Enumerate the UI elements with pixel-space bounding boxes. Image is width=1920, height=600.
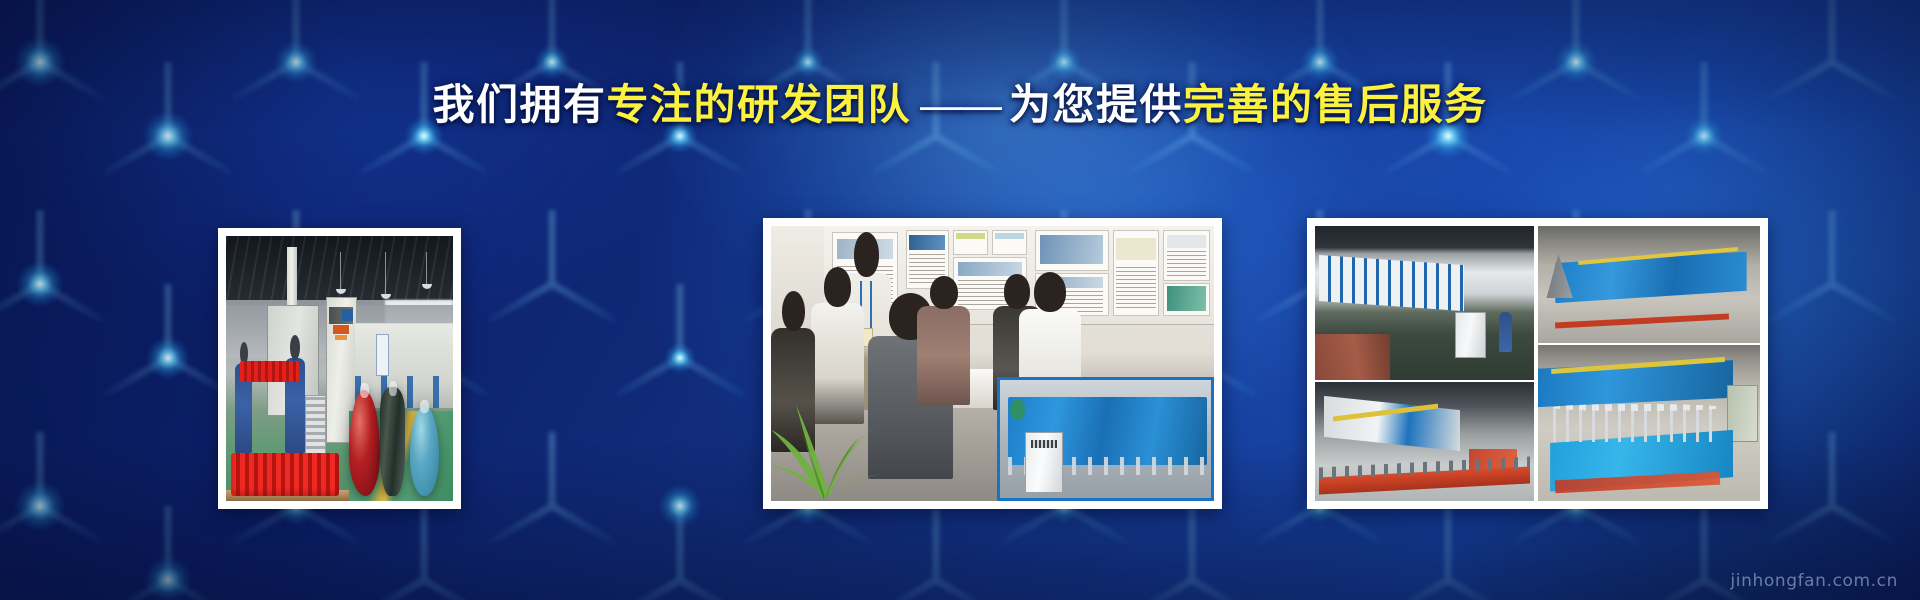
headline-segment-4: 为您提供 [1009, 81, 1183, 128]
photo-1-factory-production-line [226, 236, 453, 501]
cell-a-worker [1499, 312, 1512, 352]
inset-equipment-photo [997, 377, 1214, 501]
red-parts-on-conveyor [240, 361, 299, 382]
collage-cell-c-blue-oven [1538, 226, 1761, 343]
vase-neck [389, 381, 396, 396]
cell-a-scene [1315, 226, 1534, 380]
vase-neck [360, 383, 370, 398]
collage-cell-d-hanger-conveyor [1538, 345, 1761, 501]
headline-segment-2: 专注的研发团队 [606, 81, 911, 128]
lamp-wire [385, 252, 386, 294]
photo-panel-2[interactable] [763, 218, 1222, 509]
photo-panel-1[interactable] [218, 228, 461, 509]
vase-neck [420, 400, 429, 413]
photo-panel-3[interactable] [1307, 218, 1768, 509]
site-watermark: jinhongfan.com.cn [1730, 571, 1898, 591]
cabinet-label [342, 309, 353, 321]
red-parts-pile [231, 453, 340, 495]
cell-d-hanger-row [1553, 407, 1722, 441]
display-poster [953, 230, 988, 255]
headline-segment-1: 我们拥有 [432, 81, 606, 128]
display-poster [1035, 230, 1109, 271]
display-poster [1163, 283, 1210, 316]
glass-vase-dark [380, 387, 405, 496]
person-seated-woman-center [917, 306, 970, 405]
photo-2-customer-meeting [771, 226, 1214, 501]
wall-notice-sheet [376, 334, 390, 376]
display-poster [1113, 230, 1160, 316]
person-seated-far-left [771, 328, 815, 452]
inset-control-cabinet [1025, 432, 1063, 493]
photo-panel-group [0, 218, 1920, 510]
person-seated-left-back [811, 303, 864, 424]
display-poster [992, 230, 1027, 255]
photo-3-production-line-collage [1315, 226, 1760, 501]
collage-cell-a-coating-line [1315, 226, 1534, 380]
headline-segment-5: 完善的售后服务 [1183, 81, 1488, 128]
lamp-wire [426, 252, 427, 284]
banner-headline: 我们拥有专注的研发团队——为您提供完善的售后服务 [0, 84, 1920, 126]
lamp-wire [340, 252, 341, 289]
cell-a-machine-box [1455, 312, 1486, 358]
display-poster [1163, 230, 1210, 281]
banner-root: 我们拥有专注的研发团队——为您提供完善的售后服务 [0, 0, 1920, 600]
collage-cell-b-chain-conveyor [1315, 382, 1534, 501]
headline-dash: —— [911, 81, 1009, 128]
